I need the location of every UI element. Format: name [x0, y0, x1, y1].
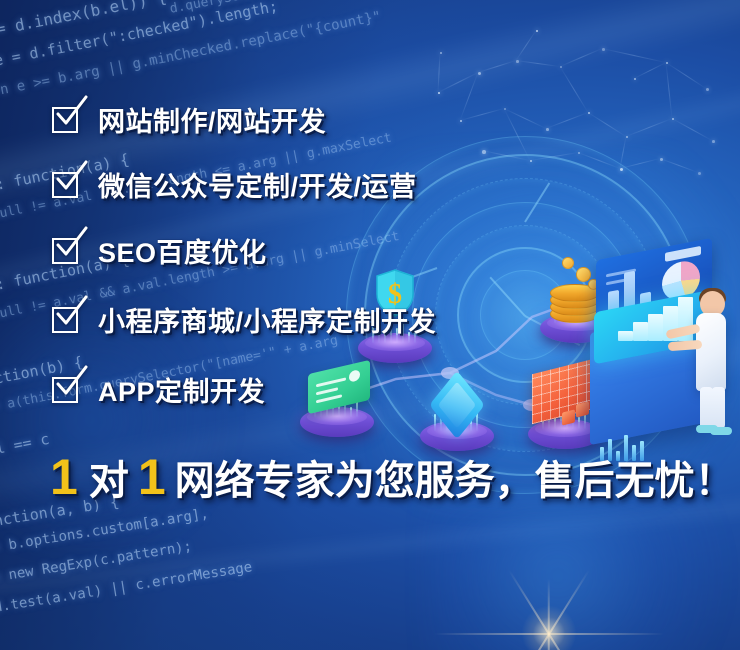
service-list-item-label: 网站制作/网站开发: [98, 100, 326, 139]
headline-number-first: 1: [50, 452, 78, 502]
check-mark-icon: [53, 230, 91, 260]
screen-header-tag: [665, 246, 701, 262]
constellation-link: [602, 48, 666, 63]
constellation-link: [666, 62, 673, 118]
constellation-link: [478, 60, 516, 73]
check-mark-icon: [53, 369, 91, 399]
checkbox-checked-icon: [52, 238, 78, 264]
service-list-item: 小程序商城/小程序定制开发: [52, 300, 436, 339]
checkbox-checked-icon: [52, 172, 78, 198]
person-shoe: [710, 427, 732, 435]
constellation-link: [560, 66, 589, 113]
checkbox-checked-icon: [52, 307, 78, 333]
check-mark-icon: [53, 299, 91, 329]
headline-slogan: 1 对 1 网络专家为您服务，售后无忧！: [50, 452, 735, 502]
checkbox-checked-icon: [52, 377, 78, 403]
service-list-item-label: 微信公众号定制/开发/运营: [98, 165, 417, 204]
constellation-link: [438, 72, 478, 93]
constellation-dot: [706, 88, 709, 91]
constellation-link: [516, 30, 537, 61]
constellation-link: [516, 60, 560, 67]
headline-tail-text: 网络专家为您服务，售后无忧！: [175, 461, 735, 501]
service-list-item: 网站制作/网站开发: [52, 100, 326, 139]
analyst-person: [686, 283, 740, 433]
headline-number-second: 1: [138, 452, 166, 502]
constellation-link: [438, 52, 441, 92]
service-list-item: SEO百度优化: [52, 231, 267, 270]
constellation-link: [460, 108, 504, 121]
service-list-item: APP定制开发: [52, 370, 265, 409]
lens-flare: [548, 632, 550, 634]
service-list-item-label: 小程序商城/小程序定制开发: [98, 300, 436, 339]
person-leg: [712, 387, 725, 429]
constellation-link: [634, 62, 666, 79]
illustration-group: $: [300, 255, 740, 465]
check-mark-icon: [53, 164, 91, 194]
constellation-dot: [712, 140, 715, 143]
service-list-item-label: APP定制开发: [98, 370, 265, 409]
constellation-link: [666, 62, 707, 89]
check-mark-icon: [53, 99, 91, 129]
promo-banner: d.querySelectorAll("input[type=checkbox]…: [0, 0, 740, 650]
checkbox-checked-icon: [52, 107, 78, 133]
constellation-link: [504, 108, 546, 129]
service-list-item: 微信公众号定制/开发/运营: [52, 165, 417, 204]
service-list-item-label: SEO百度优化: [98, 231, 267, 270]
person-lab-coat: [696, 313, 726, 391]
constellation-link: [546, 112, 588, 129]
constellation-link: [588, 112, 627, 137]
headline-mid-word: 对: [89, 461, 129, 501]
constellation-link: [560, 48, 602, 67]
